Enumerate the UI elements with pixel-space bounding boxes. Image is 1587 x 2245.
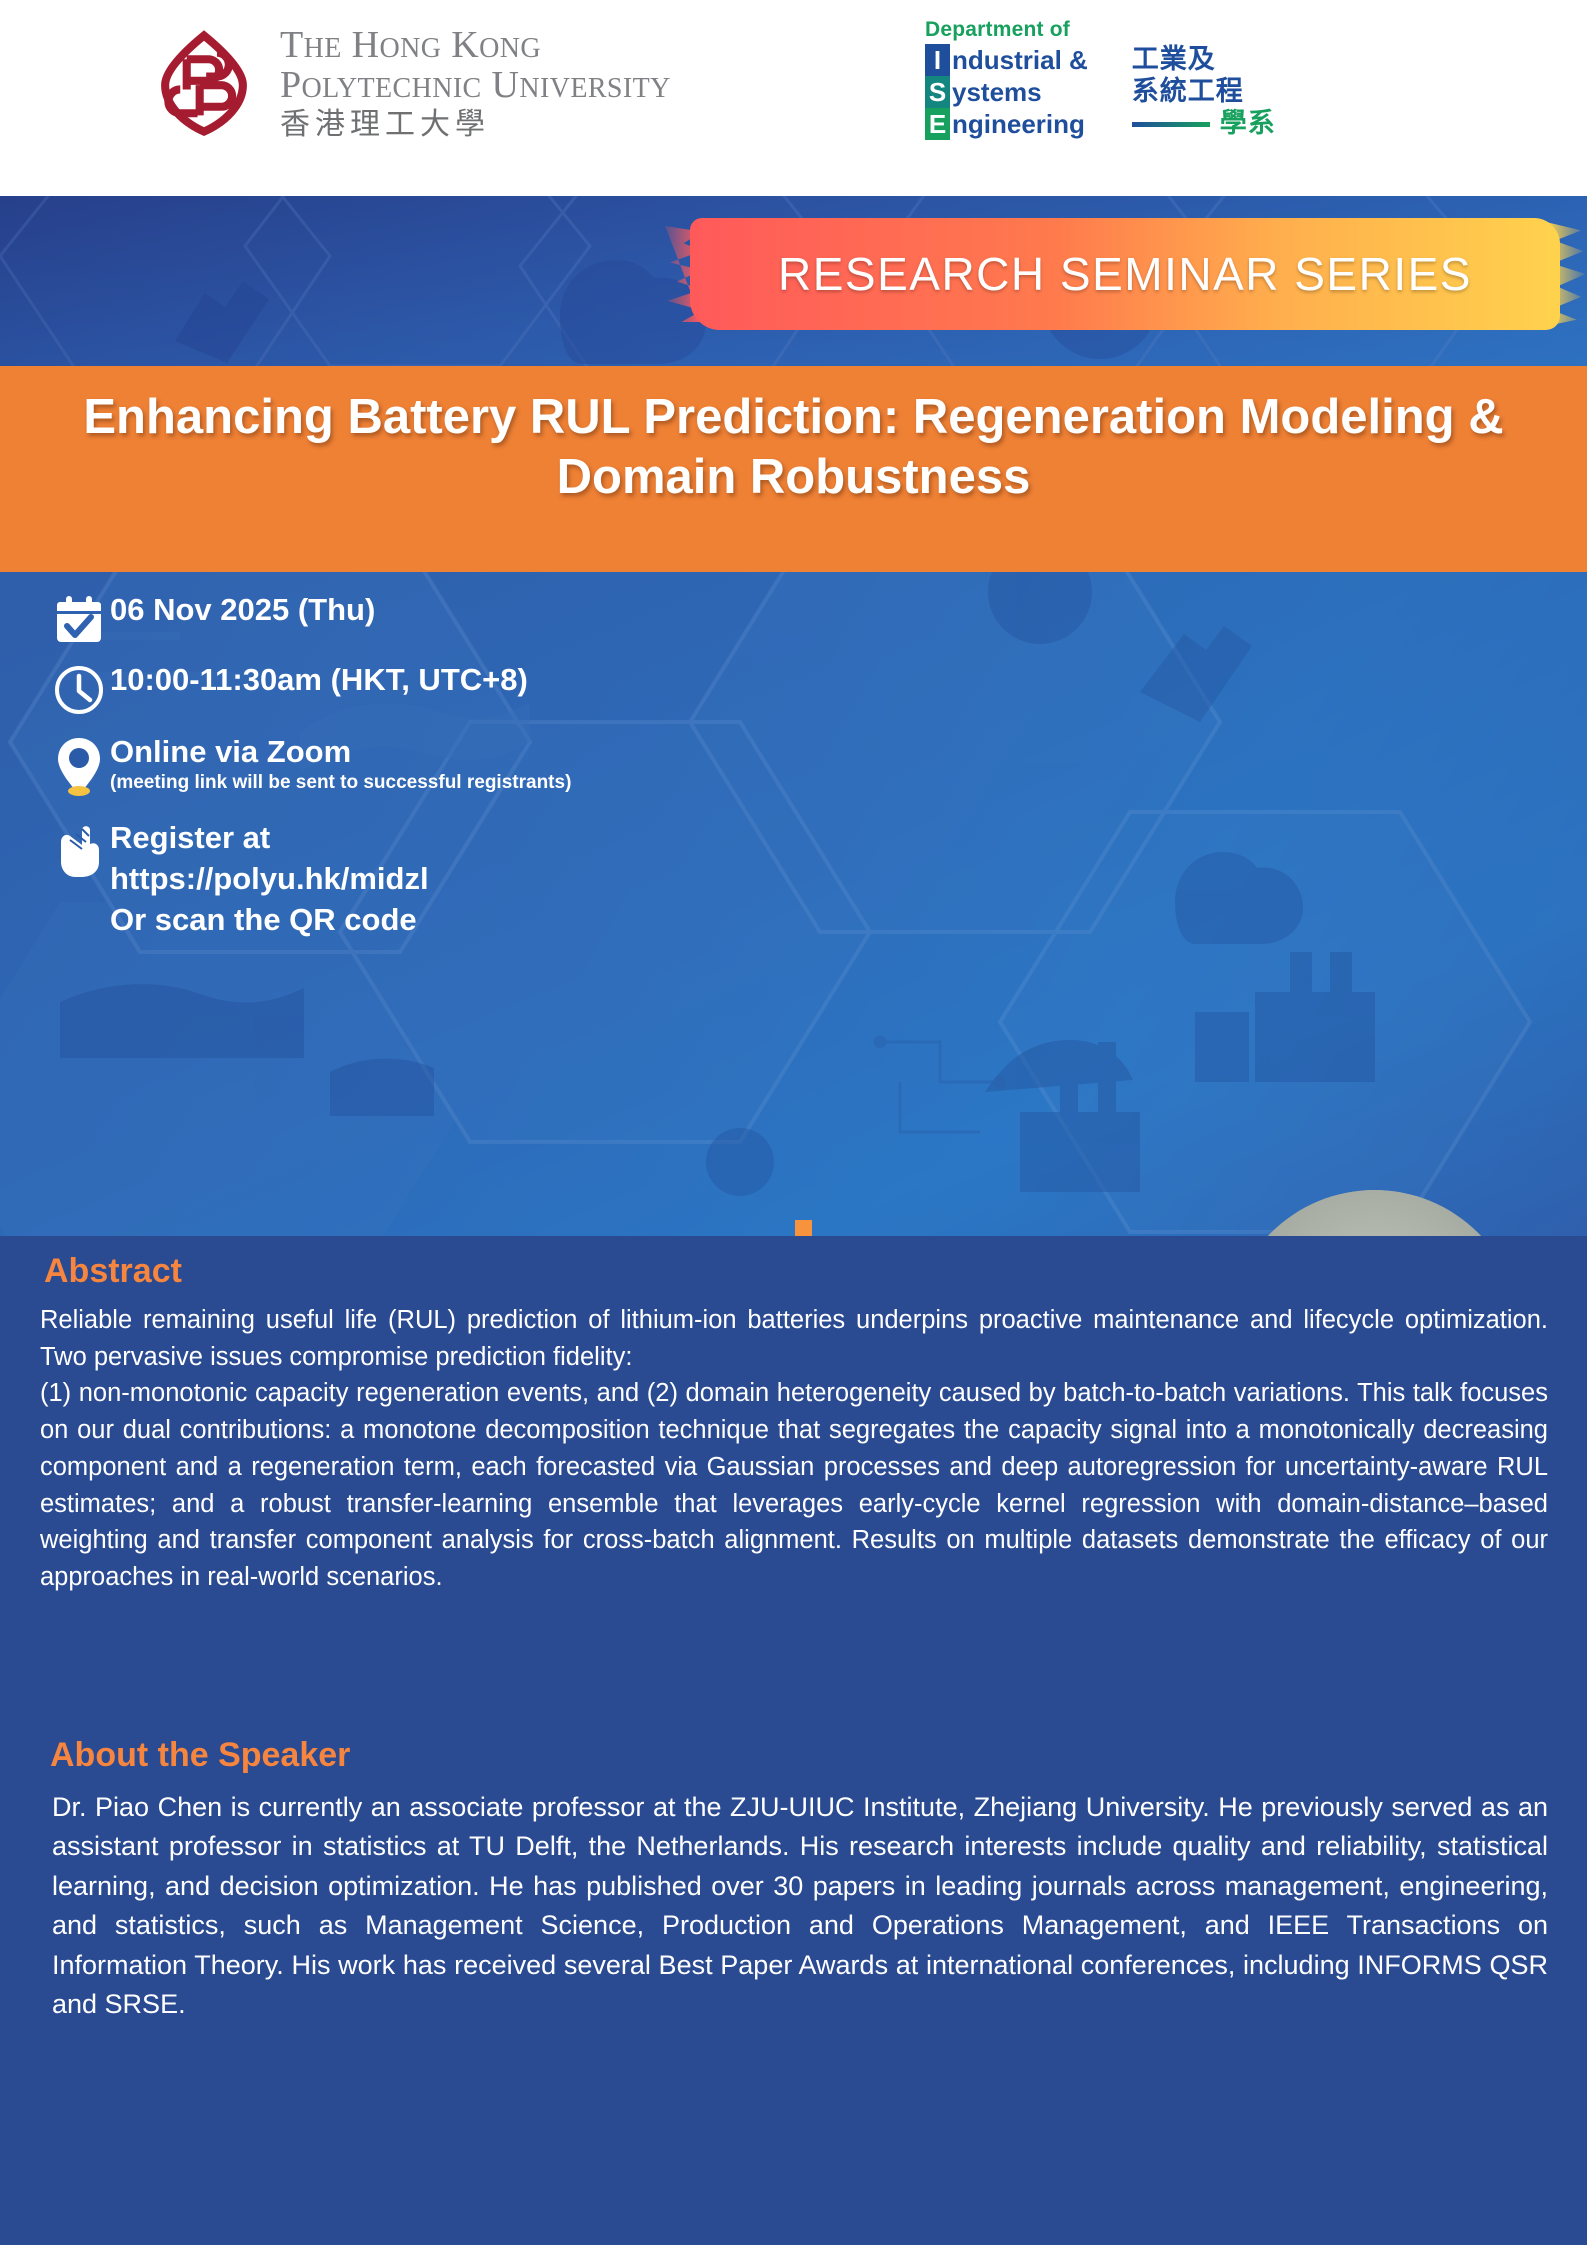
series-title: RESEARCH SEMINAR SERIES: [690, 218, 1560, 330]
abstract-heading: Abstract: [44, 1252, 182, 1291]
poster-body: Abstract Reliable remaining useful life …: [0, 1236, 1587, 2245]
ise-department-of-label: Department of: [925, 18, 1276, 42]
event-time: 10:00-11:30am (HKT, UTC+8): [110, 662, 528, 698]
location-pin-icon: [48, 734, 110, 796]
speaker-photo: [1228, 1190, 1521, 1236]
seminar-poster: THE HONG KONG POLYTECHNIC UNIVERSITY 香港理…: [0, 0, 1587, 2245]
register-url[interactable]: https://polyu.hk/midzl: [110, 859, 429, 900]
about-speaker-text: Dr. Piao Chen is currently an associate …: [52, 1788, 1548, 2024]
event-venue-note: (meeting link will be sent to successful…: [110, 772, 571, 795]
event-venue-row: Online via Zoom (meeting link will be se…: [48, 734, 788, 796]
vertical-orange-divider: [795, 1220, 812, 1236]
polyu-logo: THE HONG KONG POLYTECHNIC UNIVERSITY 香港理…: [150, 26, 671, 140]
poster-header: THE HONG KONG POLYTECHNIC UNIVERSITY 香港理…: [0, 0, 1587, 196]
event-details-section: 1110 0010 0111 1110 1001 0110 0111 0110 …: [0, 572, 1587, 1236]
ise-divider-dash-icon: [1132, 122, 1210, 127]
ise-row-systems: S ystems: [925, 76, 1088, 108]
calendar-check-icon: [48, 592, 110, 646]
seminar-title-band: Enhancing Battery RUL Prediction: Regene…: [0, 366, 1587, 572]
speaker-portrait-icon: [1228, 1190, 1521, 1236]
polyu-name-chinese: 香港理工大學: [280, 110, 671, 140]
clock-icon: [48, 662, 110, 716]
ise-department-logo: Department of I ndustrial & S ystems E n…: [925, 18, 1276, 140]
ise-letter-s: S: [925, 76, 950, 108]
abstract-paragraph-1: Reliable remaining useful life (RUL) pre…: [40, 1302, 1548, 1375]
event-register-row[interactable]: Register at https://polyu.hk/midzl Or sc…: [48, 818, 788, 941]
about-speaker-heading: About the Speaker: [50, 1736, 350, 1775]
ise-letter-e: E: [925, 108, 950, 140]
ise-word-industrial: ndustrial &: [952, 47, 1088, 73]
event-info-list: 06 Nov 2025 (Thu) 10:00-11:30am (HKT, UT…: [48, 592, 788, 955]
event-time-row: 10:00-11:30am (HKT, UTC+8): [48, 662, 788, 716]
ise-row-engineering: E ngineering: [925, 108, 1088, 140]
ise-chinese-line3-row: 學系: [1132, 108, 1276, 140]
polyu-name-line2: POLYTECHNIC UNIVERSITY: [280, 66, 671, 104]
abstract-paragraph-2: (1) non-monotonic capacity regeneration …: [40, 1375, 1548, 1595]
ise-chinese-line2: 系統工程: [1132, 76, 1276, 108]
ise-chinese-line1: 工業及: [1132, 44, 1276, 76]
ise-word-systems: ystems: [952, 79, 1042, 105]
event-date: 06 Nov 2025 (Thu): [110, 592, 375, 628]
polyu-knot-icon: [150, 29, 258, 137]
register-qr-note: Or scan the QR code: [110, 900, 429, 941]
ise-row-industrial: I ndustrial &: [925, 44, 1088, 76]
seminar-title: Enhancing Battery RUL Prediction: Regene…: [50, 388, 1537, 508]
abstract-text: Reliable remaining useful life (RUL) pre…: [40, 1302, 1548, 1596]
ise-word-engineering: ngineering: [952, 111, 1085, 137]
register-label: Register at: [110, 818, 429, 859]
speaker-bio: Dr. Piao Chen is currently an associate …: [52, 1788, 1548, 2024]
event-date-row: 06 Nov 2025 (Thu): [48, 592, 788, 646]
polyu-wordmark: THE HONG KONG POLYTECHNIC UNIVERSITY 香港理…: [280, 26, 671, 140]
polyu-name-line1: THE HONG KONG: [280, 26, 671, 64]
event-venue: Online via Zoom: [110, 734, 571, 770]
pointing-hand-icon: [48, 818, 110, 878]
ise-letter-i: I: [925, 44, 950, 76]
ise-chinese-line3: 學系: [1220, 108, 1276, 140]
series-banner: RESEARCH SEMINAR SERIES: [0, 196, 1587, 366]
